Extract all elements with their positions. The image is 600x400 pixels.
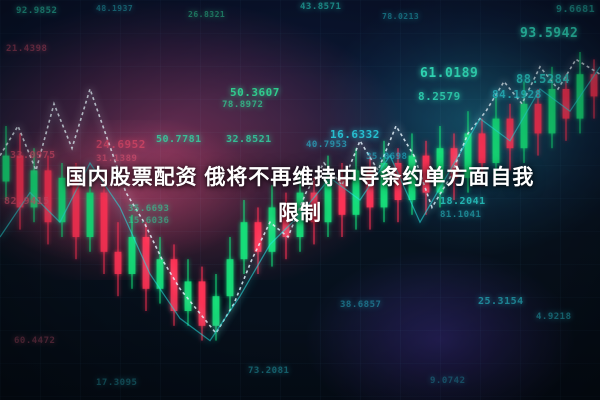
stock-chart-banner: 92.985248.193726.832143.857178.021393.59… (0, 0, 600, 400)
headline-line-1: 国内股票配资 俄将不再维持中导条约单方面自我 (66, 166, 535, 189)
headline-text: 国内股票配资 俄将不再维持中导条约单方面自我 限制 (0, 160, 600, 232)
headline-line-2: 限制 (0, 196, 600, 232)
